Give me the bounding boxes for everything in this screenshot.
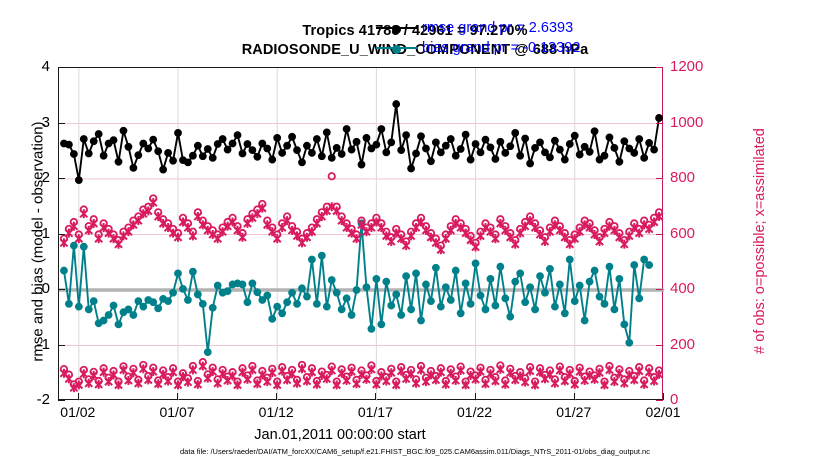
y-tick-right: 800: [670, 169, 716, 186]
legend-item-bias: bias grand pr = -0.13392: [376, 38, 580, 58]
y-tickmark-left: [58, 400, 65, 401]
x-tick-label: 01/27: [539, 404, 609, 420]
legend-item-rmse: rmse grand pr = 2.6393: [376, 18, 580, 38]
x-tick-label: 01/12: [241, 404, 311, 420]
x-tick-label: 01/22: [440, 404, 510, 420]
y-tickmark-left: [58, 234, 65, 235]
y-tick-right: 200: [670, 336, 716, 353]
y-tickmark-left: [58, 289, 65, 290]
x-tickmark: [78, 393, 79, 400]
y-tickmark-right: [656, 289, 663, 290]
y-tickmark-right: [656, 400, 663, 401]
x-tickmark: [177, 393, 178, 400]
x-tick-label: 01/07: [142, 404, 212, 420]
y-tickmark-right: [656, 345, 663, 346]
y-tick-right: 1200: [670, 58, 716, 75]
plot-canvas: [59, 68, 662, 399]
y-tickmark-left: [58, 345, 65, 346]
y-tickmark-right: [656, 67, 663, 68]
y-tickmark-right: [656, 234, 663, 235]
x-tickmark: [663, 393, 664, 400]
x-tick-label: 02/01: [628, 404, 698, 420]
x-tickmark: [276, 393, 277, 400]
data-file-caption: data file: /Users/raeder/DAI/ATM_forcXX/…: [0, 447, 830, 456]
y-tickmark-left: [58, 123, 65, 124]
y-tick-right: 1000: [670, 114, 716, 131]
chart-legend: rmse grand pr = 2.6393 bias grand pr = -…: [372, 16, 584, 60]
legend-label-bias: bias grand pr = -0.13392: [422, 40, 580, 56]
legend-swatch-bias: [376, 47, 418, 49]
x-tickmark: [574, 393, 575, 400]
x-tickmark: [475, 393, 476, 400]
y-tickmark-right: [656, 178, 663, 179]
legend-label-rmse: rmse grand pr = 2.6393: [422, 20, 573, 36]
y-tick-right: 400: [670, 280, 716, 297]
y-axis-label-left: rmse and bias (model - observation): [30, 72, 47, 412]
x-tick-label: 01/17: [340, 404, 410, 420]
y-tickmark-left: [58, 178, 65, 179]
y-tick-right: 600: [670, 225, 716, 242]
x-tick-label: 01/02: [43, 404, 113, 420]
y-tickmark-right: [656, 123, 663, 124]
y-tickmark-left: [58, 67, 65, 68]
y-axis-label-right: # of obs: o=possible; x=assimilated: [752, 71, 768, 411]
figure-root: Tropics 41788 / 42961 = 97.270% RADIOSON…: [0, 0, 830, 470]
legend-swatch-rmse: [376, 27, 418, 29]
plot-area: [58, 67, 663, 400]
x-tickmark: [375, 393, 376, 400]
x-axis-label: Jan.01,2011 00:00:00 start: [0, 427, 680, 443]
